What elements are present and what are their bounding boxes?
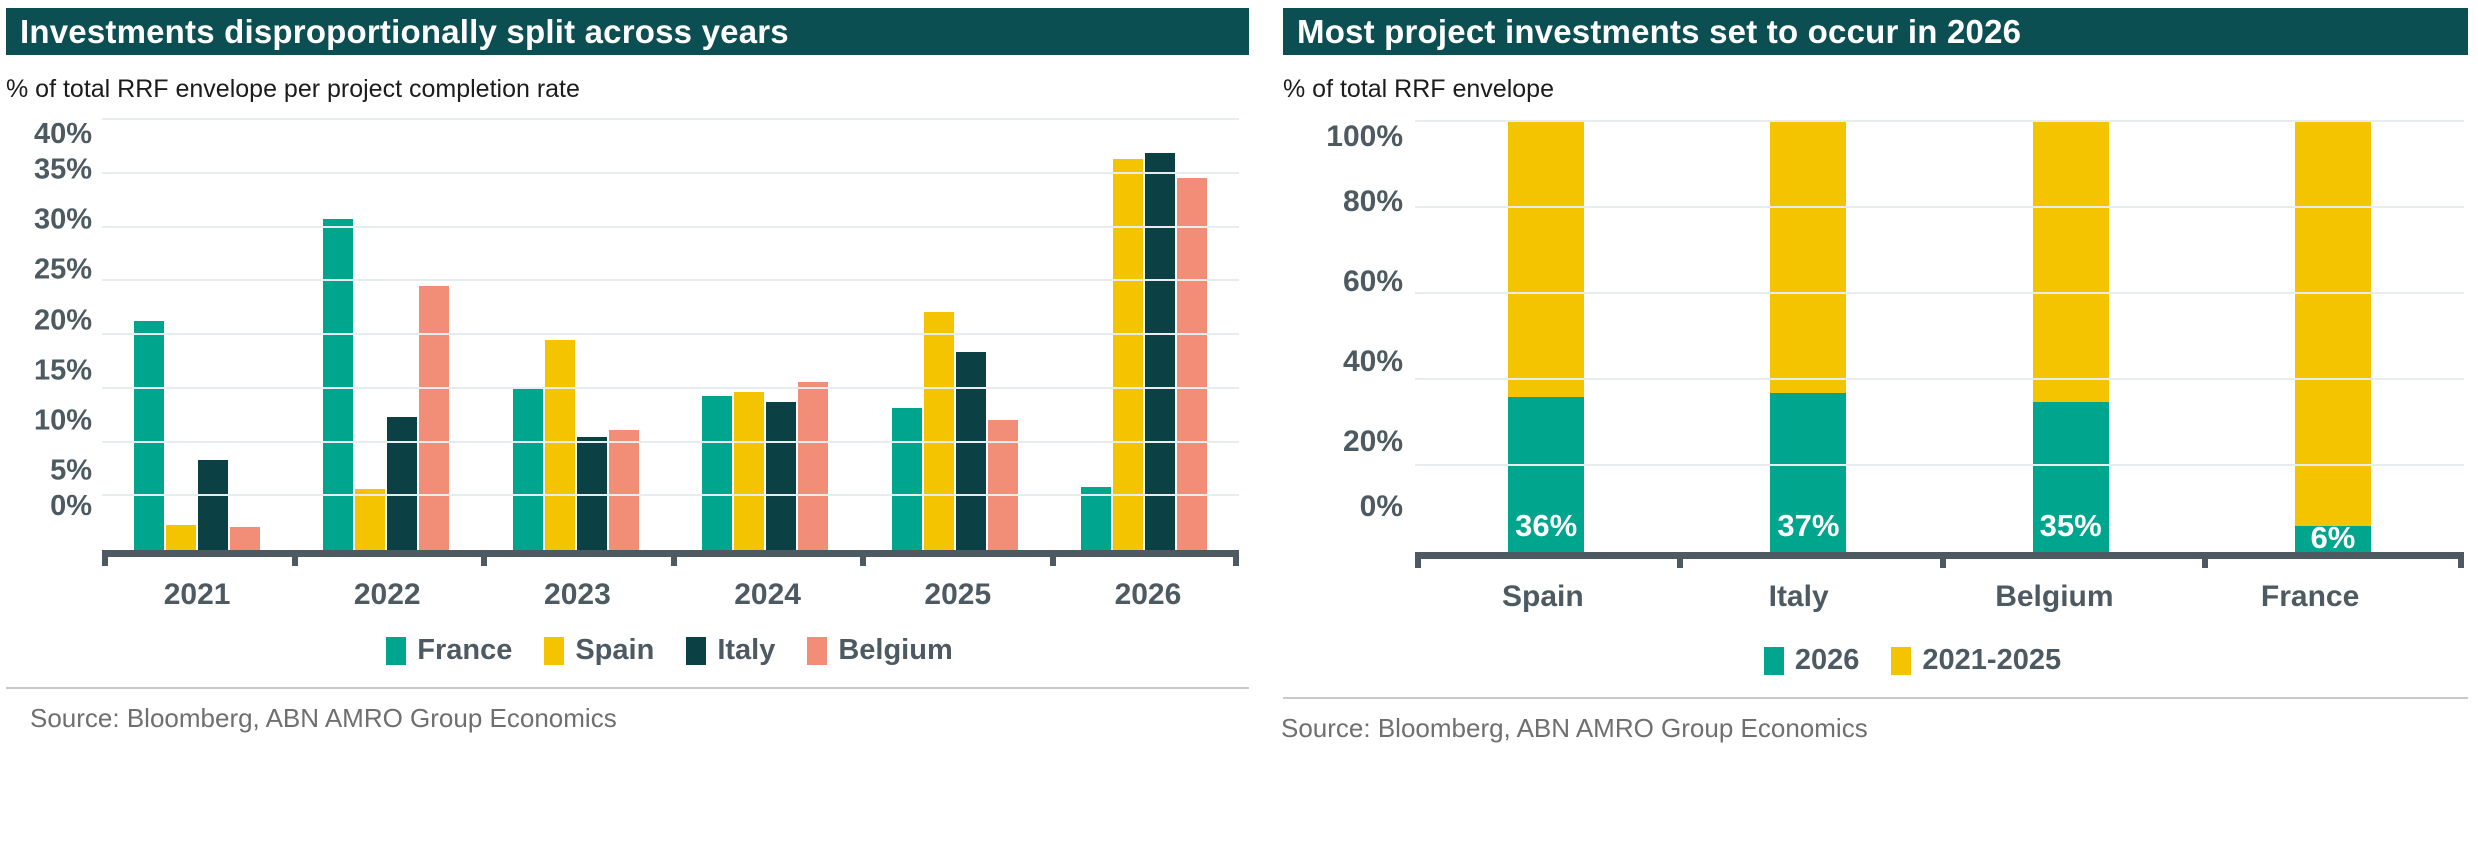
y-tick-label: 0% <box>6 492 92 521</box>
left-chart-title: Investments disproportionally split acro… <box>6 8 1249 55</box>
bar[interactable] <box>419 286 449 550</box>
right-chart-panel: Most project investments set to occur in… <box>1255 0 2478 861</box>
right-bar-groups: 36%37%35%6% <box>1415 122 2464 552</box>
left-chart-legend: FranceSpainItalyBelgium <box>96 634 1243 667</box>
legend-item[interactable]: 2021-2025 <box>1891 644 2061 677</box>
stack-segment-2021-2025[interactable] <box>1770 122 1846 393</box>
x-tick-label: 2021 <box>102 578 292 612</box>
x-axis-tick <box>860 550 866 566</box>
x-axis-tick <box>2202 552 2208 568</box>
x-axis-tick <box>1233 550 1239 566</box>
y-tick-label: 5% <box>6 456 92 485</box>
legend-label: Italy <box>717 634 775 667</box>
y-tick-label: 15% <box>6 356 92 385</box>
right-y-axis-labels: 100%80%60%40%20%0% <box>1283 122 1403 552</box>
x-tick-label: France <box>2182 580 2438 614</box>
left-chart-panel: Investments disproportionally split acro… <box>0 0 1255 861</box>
left-chart-plot: 40%35%30%25%20%15%10%5%0% <box>6 120 1249 550</box>
right-plot-area: 36%37%35%6% <box>1415 122 2464 552</box>
bar[interactable] <box>702 396 732 550</box>
bar-group <box>292 120 482 550</box>
gridline <box>102 118 1239 120</box>
gridline <box>1415 292 2464 294</box>
legend-item[interactable]: 2026 <box>1764 644 1860 677</box>
stacked-bar[interactable]: 37% <box>1770 122 1846 552</box>
left-bar-groups <box>102 120 1239 550</box>
legend-item[interactable]: Belgium <box>807 634 952 667</box>
stacked-bar[interactable]: 35% <box>2033 122 2109 552</box>
gridline <box>1415 120 2464 122</box>
y-tick-label: 10% <box>6 406 92 435</box>
legend-swatch-icon <box>1891 647 1911 675</box>
bar-group <box>671 120 861 550</box>
legend-item[interactable]: Italy <box>686 634 775 667</box>
bar-group <box>102 120 292 550</box>
y-tick-label: 0% <box>1283 492 1403 522</box>
stacked-bar[interactable]: 6% <box>2295 122 2371 552</box>
bar[interactable] <box>924 312 954 550</box>
bar[interactable] <box>513 389 543 550</box>
stack-segment-2021-2025[interactable] <box>1508 122 1584 397</box>
gridline <box>102 333 1239 335</box>
bar-group: 36% <box>1415 122 1677 552</box>
bar-value-label: 35% <box>2033 508 2109 544</box>
y-tick-label: 35% <box>6 156 92 185</box>
stack-segment-2026[interactable]: 35% <box>2033 402 2109 553</box>
x-tick-label: 2022 <box>292 578 482 612</box>
x-axis-tick <box>481 550 487 566</box>
legend-item[interactable]: France <box>386 634 512 667</box>
bar-group: 35% <box>1940 122 2202 552</box>
right-x-axis-labels: SpainItalyBelgiumFrance <box>1415 580 2438 614</box>
bar[interactable] <box>134 321 164 550</box>
right-chart-plot: 100%80%60%40%20%0% 36%37%35%6% <box>1283 122 2468 552</box>
bar-value-label: 6% <box>2295 520 2371 556</box>
bar-group <box>1050 120 1240 550</box>
y-tick-label: 20% <box>1283 427 1403 457</box>
x-tick-label: 2026 <box>1053 578 1243 612</box>
left-plot-area <box>102 120 1239 550</box>
left-chart-subtitle: % of total RRF envelope per project comp… <box>6 75 1255 104</box>
y-tick-label: 40% <box>6 120 92 149</box>
gridline <box>102 387 1239 389</box>
bar[interactable] <box>166 525 196 550</box>
bar[interactable] <box>230 527 260 550</box>
legend-item[interactable]: Spain <box>544 634 654 667</box>
x-axis-tick <box>292 550 298 566</box>
legend-label: France <box>417 634 512 667</box>
bar[interactable] <box>387 417 417 550</box>
bar[interactable] <box>198 460 228 550</box>
x-axis-tick <box>2458 552 2464 568</box>
bar[interactable] <box>323 219 353 550</box>
stack-segment-2021-2025[interactable] <box>2033 122 2109 402</box>
y-tick-label: 100% <box>1283 122 1403 152</box>
bar-group: 37% <box>1677 122 1939 552</box>
bar[interactable] <box>798 382 828 550</box>
x-tick-label: Italy <box>1671 580 1927 614</box>
bar[interactable] <box>766 402 796 550</box>
bar[interactable] <box>956 352 986 550</box>
bar[interactable] <box>609 430 639 550</box>
left-x-axis-labels: 202120222023202420252026 <box>102 578 1243 612</box>
x-tick-label: Belgium <box>1927 580 2183 614</box>
legend-swatch-icon <box>1764 647 1784 675</box>
gridline <box>102 441 1239 443</box>
x-axis-tick <box>102 550 108 566</box>
right-chart-title: Most project investments set to occur in… <box>1283 8 2468 55</box>
dual-chart-page: Investments disproportionally split acro… <box>0 0 2478 861</box>
gridline <box>1415 378 2464 380</box>
bar-value-label: 36% <box>1508 508 1584 544</box>
bar[interactable] <box>988 420 1018 550</box>
right-chart-legend: 20262021-2025 <box>1387 644 2438 677</box>
x-tick-label: 2025 <box>863 578 1053 612</box>
x-axis-tick <box>671 550 677 566</box>
bar[interactable] <box>892 408 922 550</box>
right-source-text: Source: Bloomberg, ABN AMRO Group Econom… <box>1281 699 2478 744</box>
y-tick-label: 25% <box>6 256 92 285</box>
gridline <box>1415 464 2464 466</box>
bar[interactable] <box>545 340 575 550</box>
left-y-axis-labels: 40%35%30%25%20%15%10%5%0% <box>6 120 92 550</box>
bar[interactable] <box>734 392 764 550</box>
x-axis-tick <box>1940 552 1946 568</box>
legend-label: 2026 <box>1795 644 1860 677</box>
y-tick-label: 40% <box>1283 347 1403 377</box>
stack-segment-2026[interactable]: 36% <box>1508 397 1584 552</box>
right-chart-subtitle: % of total RRF envelope <box>1283 75 2478 104</box>
y-tick-label: 20% <box>6 306 92 335</box>
x-tick-label: 2023 <box>482 578 672 612</box>
gridline <box>102 172 1239 174</box>
y-tick-label: 60% <box>1283 267 1403 297</box>
stack-segment-2026[interactable]: 37% <box>1770 393 1846 552</box>
bar-group: 6% <box>2202 122 2464 552</box>
bar[interactable] <box>1145 153 1175 550</box>
gridline <box>102 226 1239 228</box>
bar-group <box>481 120 671 550</box>
x-tick-label: Spain <box>1415 580 1671 614</box>
left-source-text: Source: Bloomberg, ABN AMRO Group Econom… <box>30 689 1255 734</box>
bar-group <box>860 120 1050 550</box>
legend-swatch-icon <box>807 637 827 665</box>
gridline <box>102 494 1239 496</box>
bar[interactable] <box>1113 159 1143 550</box>
x-axis-tick <box>1677 552 1683 568</box>
x-axis-tick <box>1050 550 1056 566</box>
y-tick-label: 80% <box>1283 187 1403 217</box>
legend-label: Belgium <box>838 634 952 667</box>
x-axis-tick <box>1415 552 1421 568</box>
legend-label: 2021-2025 <box>1922 644 2061 677</box>
legend-swatch-icon <box>686 637 706 665</box>
bar[interactable] <box>355 489 385 550</box>
stacked-bar[interactable]: 36% <box>1508 122 1584 552</box>
gridline <box>102 279 1239 281</box>
bar-value-label: 37% <box>1770 508 1846 544</box>
legend-label: Spain <box>575 634 654 667</box>
stack-segment-2026[interactable]: 6% <box>2295 526 2371 552</box>
legend-swatch-icon <box>544 637 564 665</box>
y-tick-label: 30% <box>6 206 92 235</box>
x-tick-label: 2024 <box>673 578 863 612</box>
gridline <box>1415 206 2464 208</box>
legend-swatch-icon <box>386 637 406 665</box>
